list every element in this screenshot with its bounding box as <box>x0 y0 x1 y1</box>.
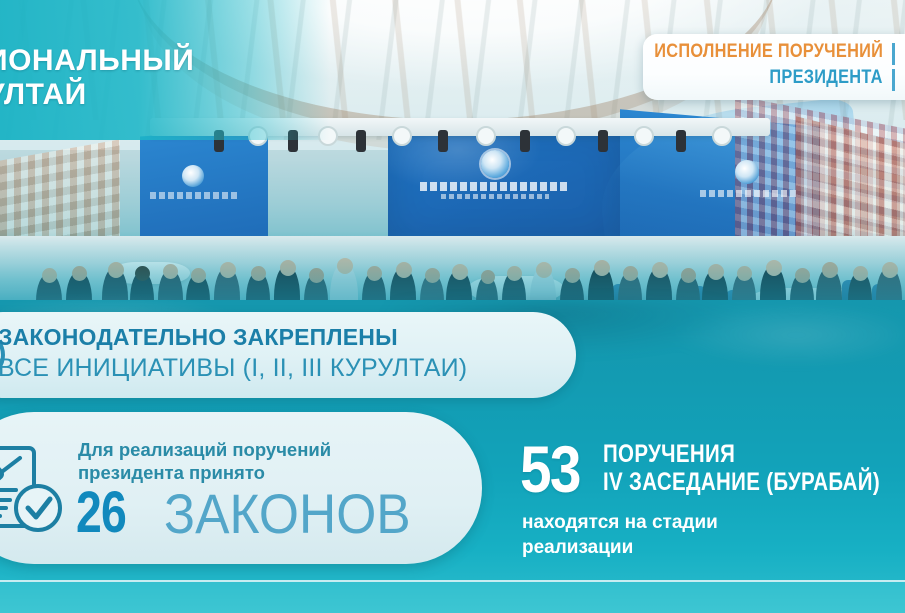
laws-number: 26 <box>76 484 126 542</box>
kurultai-wordmark-right <box>700 190 796 197</box>
kurultai-emblem-center <box>481 150 509 178</box>
kurultai-subtext-center <box>441 194 549 199</box>
page-title-line2: УЛТАЙ <box>0 78 87 112</box>
banner-line2: ВСЕ ИНИЦИАТИВЫ (I, II, III КУРУЛТАИ) <box>0 354 467 383</box>
badge-label-president: ПРЕЗИДЕНТА <box>770 67 883 89</box>
laws-adopted-card: Для реализаций поручений президента прин… <box>0 412 482 564</box>
orders-label-line1: ПОРУЧЕНИЯ <box>603 440 735 468</box>
badge-accent-bar-top <box>892 43 895 65</box>
laws-caption-line1: Для реализаций поручений <box>78 439 331 460</box>
page-title-line1: ИОНАЛЬНЫЙ <box>0 44 194 78</box>
orders-status-line1: находятся на стадии <box>522 510 718 535</box>
legislation-banner: ЗАКОНОДАТЕЛЬНО ЗАКРЕПЛЕНЫ ВСЕ ИНИЦИАТИВЫ… <box>0 312 576 398</box>
presidential-orders-badge: ИСПОЛНЕНИЕ ПОРУЧЕНИЙ ПРЕЗИДЕНТА <box>643 34 905 100</box>
orders-in-progress-block: 53 ПОРУЧЕНИЯ IV ЗАСЕДАНИЕ (БУРАБАЙ) нахо… <box>520 438 905 568</box>
orders-number: 53 <box>520 436 580 502</box>
kurultai-emblem-left <box>182 165 204 187</box>
kurultai-emblem-right <box>735 160 759 184</box>
kurultai-wordmark-center <box>420 182 570 191</box>
badge-label-orders: ИСПОЛНЕНИЕ ПОРУЧЕНИЙ <box>654 41 883 63</box>
bottom-teal-band <box>0 582 905 613</box>
orders-status-line2: реализации <box>522 535 633 560</box>
kurultai-wordmark-left <box>150 192 238 199</box>
banner-line1: ЗАКОНОДАТЕЛЬНО ЗАКРЕПЛЕНЫ <box>0 324 398 351</box>
slide-title-overlay: ИОНАЛЬНЫЙ УЛТАЙ <box>0 0 330 140</box>
laws-caption: Для реализаций поручений президента прин… <box>78 438 331 484</box>
infographic-slide: ИОНАЛЬНЫЙ УЛТАЙ ИСПОЛНЕНИЕ ПОРУЧЕНИЙ ПРЕ… <box>0 0 905 613</box>
orders-label-line2: IV ЗАСЕДАНИЕ (БУРАБАЙ) <box>603 468 880 496</box>
laws-unit-label: ЗАКОНОВ <box>164 486 411 542</box>
badge-accent-bar-bottom <box>892 69 895 91</box>
gavel-document-check-icon <box>0 444 76 540</box>
